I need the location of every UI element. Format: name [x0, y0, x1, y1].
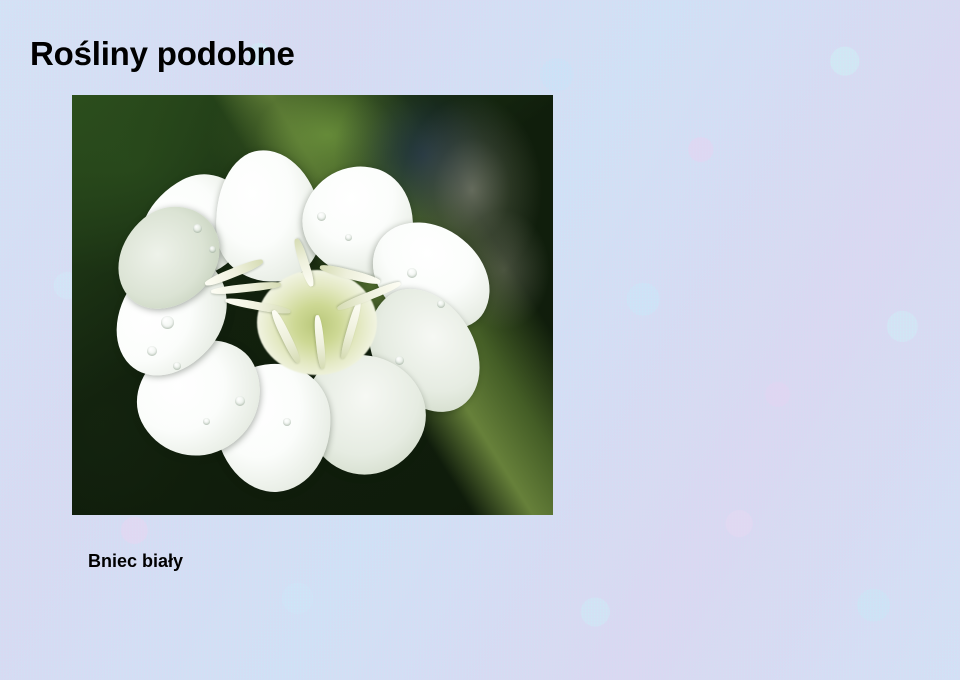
droplet-5 [209, 246, 216, 253]
white-campion-flower [107, 150, 527, 500]
droplet-12 [235, 396, 245, 406]
page-title: Rośliny podobne [30, 36, 295, 72]
droplet-8 [407, 268, 417, 278]
droplet-11 [283, 418, 291, 426]
droplet-10 [395, 356, 404, 365]
droplet-3 [173, 362, 181, 370]
droplet-13 [203, 418, 210, 425]
image-caption: Bniec biały [88, 551, 183, 573]
droplet-9 [437, 300, 445, 308]
droplet-7 [345, 234, 352, 241]
droplet-2 [147, 346, 157, 356]
droplet-1 [161, 316, 174, 329]
flower-photo [72, 95, 553, 515]
presentation-slide: Rośliny podobne Bniec biały [0, 0, 960, 680]
droplet-6 [317, 212, 326, 221]
droplet-4 [193, 224, 202, 233]
